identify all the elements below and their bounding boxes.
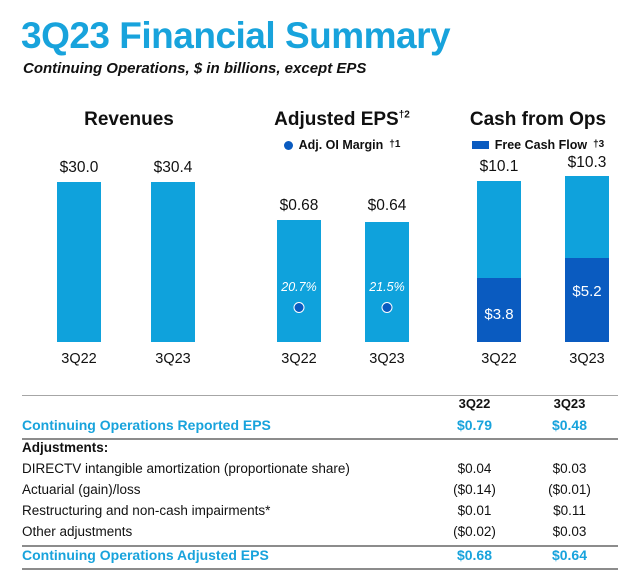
bar-revenues-3q22[interactable] [57, 182, 101, 342]
axis-label-eps-3q23: 3Q23 [344, 350, 430, 368]
bar-free-cash-flow-3q23[interactable]: $5.2 [565, 258, 609, 342]
bar-eps-3q22[interactable]: 20.7% [277, 220, 321, 342]
bar-value-eps-3q23: $0.64 [344, 196, 430, 215]
chart-cash-from-ops-title-text: Cash from Ops [470, 109, 606, 130]
table-row: Other adjustments ($0.02) $0.03 [22, 524, 618, 545]
table-row: Adjustments: [22, 440, 618, 461]
bar-group-cash-3q22: $10.1 $3.8 3Q22 [456, 154, 542, 368]
bar-group-cash-3q23: $10.3 $5.2 3Q23 [544, 154, 630, 368]
row-value-restructuring-impairments-3q22: $0.01 [427, 503, 522, 518]
chart-adjusted-eps: Adjusted EPS†2 Adj. OI Margin†1 $0.68 20… [244, 108, 440, 368]
chart-adjusted-eps-title-text: Adjusted EPS [274, 109, 399, 130]
chart-adjusted-eps-title-superscript: †2 [399, 110, 410, 121]
bar-value-eps-3q22: $0.68 [256, 196, 342, 215]
row-value-reported-eps-3q23: $0.48 [522, 417, 617, 433]
row-label-adjusted-eps: Continuing Operations Adjusted EPS [22, 547, 427, 563]
row-label-directv-amortization: DIRECTV intangible amortization (proport… [22, 461, 427, 476]
row-value-directv-amortization-3q22: $0.04 [427, 461, 522, 476]
margin-dot-marker-3q22[interactable] [294, 302, 305, 313]
bar-group-3q23: $30.4 3Q23 [130, 154, 216, 368]
bar-group-eps-3q22: $0.68 20.7% 3Q22 [256, 154, 342, 368]
page-subtitle: Continuing Operations, $ in billions, ex… [23, 59, 366, 79]
bar-value-cash-3q22: $10.1 [456, 157, 542, 176]
bar-value-revenues-3q22: $30.0 [36, 158, 122, 177]
chart-revenues: Revenues $30.0 3Q22 $30.4 3Q23 [14, 108, 244, 368]
table-row: DIRECTV intangible amortization (proport… [22, 461, 618, 482]
legend-free-cash-flow-label: Free Cash Flow [495, 138, 587, 152]
chart-adjusted-eps-plot: $0.68 20.7% 3Q22 $0.64 21.5% 3Q23 [244, 154, 440, 368]
table-row: Restructuring and non-cash impairments* … [22, 503, 618, 524]
axis-label-revenues-3q23: 3Q23 [130, 350, 216, 368]
row-label-restructuring-impairments: Restructuring and non-cash impairments* [22, 503, 427, 518]
dot-marker-icon [284, 141, 293, 150]
table-row: Continuing Operations Reported EPS $0.79… [22, 417, 618, 438]
chart-adjusted-eps-title: Adjusted EPS†2 [244, 108, 440, 132]
bar-revenues-3q23[interactable] [151, 182, 195, 342]
row-value-restructuring-impairments-3q23: $0.11 [522, 503, 617, 518]
chart-revenues-title: Revenues [14, 108, 244, 132]
table-header-row: 3Q22 3Q23 [22, 396, 618, 417]
table-row: Actuarial (gain)/loss ($0.14) ($0.01) [22, 482, 618, 503]
margin-label-3q22: 20.7% [277, 280, 321, 295]
row-value-other-adjustments-3q22: ($0.02) [427, 524, 522, 539]
row-value-actuarial-gain-loss-3q22: ($0.14) [427, 482, 522, 497]
chart-revenues-title-text: Revenues [84, 109, 174, 130]
page-title: 3Q23 Financial Summary [21, 14, 450, 58]
row-value-adjusted-eps-3q22: $0.68 [427, 547, 522, 563]
slide-canvas: 3Q23 Financial Summary Continuing Operat… [0, 0, 640, 564]
chart-cash-from-ops: Cash from Ops Free Cash Flow†3 $10.1 $3.… [440, 108, 636, 368]
row-value-adjusted-eps-3q23: $0.64 [522, 547, 617, 563]
row-label-actuarial-gain-loss: Actuarial (gain)/loss [22, 482, 427, 497]
seg-label-free-cash-flow-3q22: $3.8 [477, 306, 521, 324]
axis-label-eps-3q22: 3Q22 [256, 350, 342, 368]
row-label-adjustments-heading: Adjustments: [22, 440, 427, 455]
axis-label-revenues-3q22: 3Q22 [36, 350, 122, 368]
square-swatch-icon [472, 141, 489, 149]
legend-adj-oi-margin: Adj. OI Margin†1 [244, 138, 440, 152]
table-row: Continuing Operations Adjusted EPS $0.68… [22, 547, 618, 568]
table-header-3q22: 3Q22 [427, 396, 522, 411]
legend-free-cash-flow: Free Cash Flow†3 [440, 138, 636, 152]
row-value-directv-amortization-3q23: $0.03 [522, 461, 617, 476]
row-value-reported-eps-3q22: $0.79 [427, 417, 522, 433]
chart-cash-from-ops-plot: $10.1 $3.8 3Q22 $10.3 $5.2 3Q23 [440, 154, 636, 368]
row-value-actuarial-gain-loss-3q23: ($0.01) [522, 482, 617, 497]
axis-label-cash-3q22: 3Q22 [456, 350, 542, 368]
seg-label-free-cash-flow-3q23: $5.2 [565, 283, 609, 301]
chart-cash-from-ops-title: Cash from Ops [440, 108, 636, 132]
row-value-other-adjustments-3q23: $0.03 [522, 524, 617, 539]
bar-value-revenues-3q23: $30.4 [130, 158, 216, 177]
chart-revenues-plot: $30.0 3Q22 $30.4 3Q23 [14, 154, 244, 368]
bar-cash-3q23[interactable]: $5.2 [565, 176, 609, 342]
row-label-reported-eps: Continuing Operations Reported EPS [22, 417, 427, 433]
legend-adj-oi-margin-label: Adj. OI Margin [299, 138, 384, 152]
bar-free-cash-flow-3q22[interactable]: $3.8 [477, 278, 521, 342]
table-header-3q23: 3Q23 [522, 396, 617, 411]
bar-value-cash-3q23: $10.3 [544, 153, 630, 172]
margin-label-3q23: 21.5% [365, 280, 409, 295]
bar-group-3q22: $30.0 3Q22 [36, 154, 122, 368]
row-label-other-adjustments: Other adjustments [22, 524, 427, 539]
axis-label-cash-3q23: 3Q23 [544, 350, 630, 368]
bar-eps-3q23[interactable]: 21.5% [365, 222, 409, 342]
margin-dot-marker-3q23[interactable] [382, 302, 393, 313]
bar-group-eps-3q23: $0.64 21.5% 3Q23 [344, 154, 430, 368]
eps-reconciliation-table: 3Q22 3Q23 Continuing Operations Reported… [22, 395, 618, 570]
bar-cash-3q22[interactable]: $3.8 [477, 181, 521, 342]
